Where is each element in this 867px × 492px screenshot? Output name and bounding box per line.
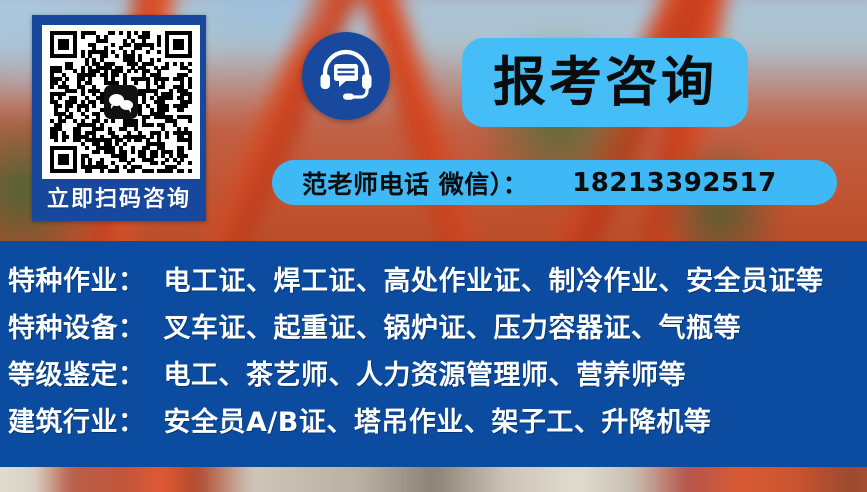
list-row-category: 特种设备：	[8, 306, 146, 345]
list-row-category: 等级鉴定：	[8, 353, 146, 392]
consultation-title-text: 报考咨询	[493, 56, 717, 109]
qr-code-image-wrap	[42, 25, 200, 179]
list-row-items: 安全员A/B证、塔吊作业、架子工、升降机等	[164, 400, 712, 439]
qr-code-card[interactable]: 立即扫码咨询	[32, 15, 206, 221]
list-row-special-operations: 特种作业： 电工证、焊工证、高处作业证、制冷作业、安全员证等	[8, 258, 824, 298]
bottom-photo-strip	[0, 467, 867, 492]
certificate-list-band: 特种作业： 电工证、焊工证、高处作业证、制冷作业、安全员证等 特种设备： 叉车证…	[0, 241, 867, 467]
list-row-category: 建筑行业：	[8, 400, 146, 439]
consultation-title-pill: 报考咨询	[462, 38, 748, 127]
list-row-category: 特种作业：	[8, 259, 146, 298]
contact-label: 范老师电话 微信）：	[302, 165, 528, 201]
promo-poster: 立即扫码咨询 报考咨询 范老师电话 微信）： 18213392517 特种作业：…	[0, 0, 867, 492]
wechat-icon	[104, 85, 138, 119]
headset-glyph	[316, 46, 376, 106]
list-row-grade-assessment: 等级鉴定： 电工、茶艺师、人力资源管理师、营养师等	[8, 352, 686, 392]
contact-phone-pill[interactable]: 范老师电话 微信）： 18213392517	[272, 160, 837, 205]
qr-code-image	[50, 31, 192, 173]
headset-support-icon	[302, 32, 390, 120]
list-row-construction-industry: 建筑行业： 安全员A/B证、塔吊作业、架子工、升降机等	[8, 399, 711, 439]
list-row-items: 电工、茶艺师、人力资源管理师、营养师等	[164, 353, 687, 392]
bottom-background-photo	[0, 467, 867, 492]
contact-phone-number[interactable]: 18213392517	[572, 168, 777, 198]
list-row-special-equipment: 特种设备： 叉车证、起重证、锅炉证、压力容器证、气瓶等	[8, 305, 741, 345]
list-row-items: 电工证、焊工证、高处作业证、制冷作业、安全员证等	[164, 259, 824, 298]
qr-caption: 立即扫码咨询	[36, 177, 202, 217]
list-row-items: 叉车证、起重证、锅炉证、压力容器证、气瓶等	[164, 306, 742, 345]
